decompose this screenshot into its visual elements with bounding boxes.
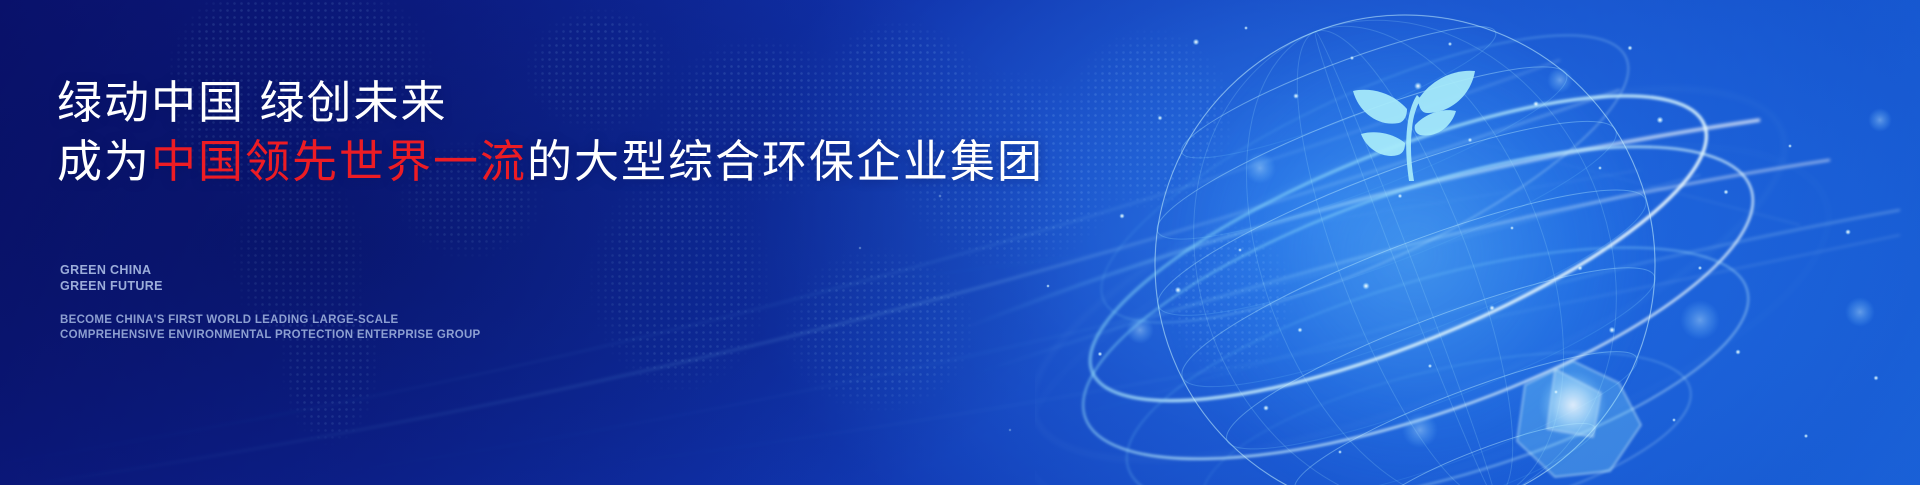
subtitle-en-line-2: COMPREHENSIVE ENVIRONMENTAL PROTECTION E… xyxy=(60,328,481,343)
headline-line-2-suffix: 的大型综合环保企业集团 xyxy=(527,136,1044,187)
hero-banner: 绿动中国 绿创未来 成为中国领先世界一流的大型综合环保企业集团 GREEN CH… xyxy=(0,0,1920,485)
tagline-en-line-1: GREEN CHINA xyxy=(60,262,163,278)
headline-line-2: 成为中国领先世界一流的大型综合环保企业集团 xyxy=(57,133,1044,192)
headline-line-2-prefix: 成为 xyxy=(57,136,151,187)
tagline-en-line-2: GREEN FUTURE xyxy=(60,278,163,294)
halftone-world-map xyxy=(0,0,1920,485)
headline-line-2-highlight: 中国领先世界一流 xyxy=(151,136,527,187)
headline: 绿动中国 绿创未来 成为中国领先世界一流的大型综合环保企业集团 xyxy=(57,74,1044,191)
headline-line-1: 绿动中国 绿创未来 xyxy=(57,77,448,128)
subtitle-en-line-1: BECOME CHINA'S FIRST WORLD LEADING LARGE… xyxy=(60,313,481,328)
subtitle-en: BECOME CHINA'S FIRST WORLD LEADING LARGE… xyxy=(60,313,481,343)
tagline-en: GREEN CHINA GREEN FUTURE xyxy=(60,262,163,295)
